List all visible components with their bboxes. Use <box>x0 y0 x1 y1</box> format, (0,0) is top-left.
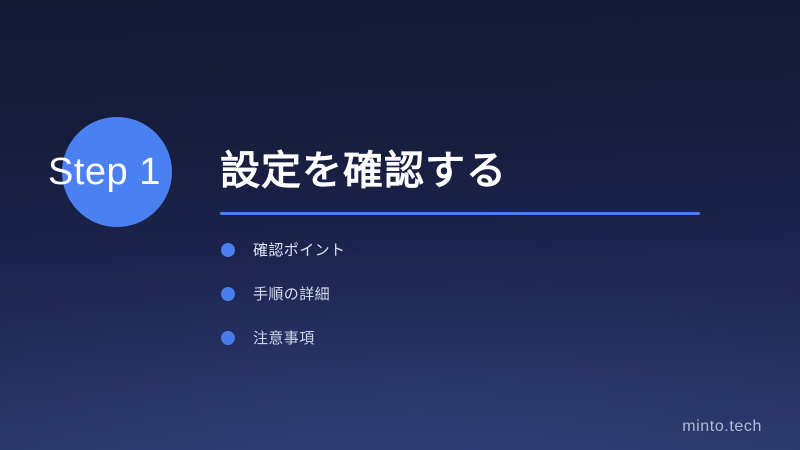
bullet-dot-icon <box>221 243 235 257</box>
step-badge-label: Step 1 <box>48 148 198 196</box>
slide-canvas: Step 1 設定を確認する 確認ポイント 手順の詳細 注意事項 minto.t… <box>0 0 800 450</box>
bullet-list: 確認ポイント 手順の詳細 注意事項 <box>221 241 691 373</box>
footer-brand: minto.tech <box>682 418 762 436</box>
page-title: 設定を確認する <box>220 146 507 196</box>
bullet-dot-icon <box>221 331 235 345</box>
list-item-label: 手順の詳細 <box>253 283 330 304</box>
bullet-dot-icon <box>221 287 235 301</box>
list-item-label: 確認ポイント <box>253 239 345 260</box>
list-item: 注意事項 <box>221 329 691 346</box>
list-item: 確認ポイント <box>221 241 691 258</box>
list-item-label: 注意事項 <box>253 327 315 348</box>
list-item: 手順の詳細 <box>221 285 691 302</box>
slide-content-layer: Step 1 設定を確認する 確認ポイント 手順の詳細 注意事項 minto.t… <box>0 0 800 450</box>
title-divider <box>220 212 700 215</box>
